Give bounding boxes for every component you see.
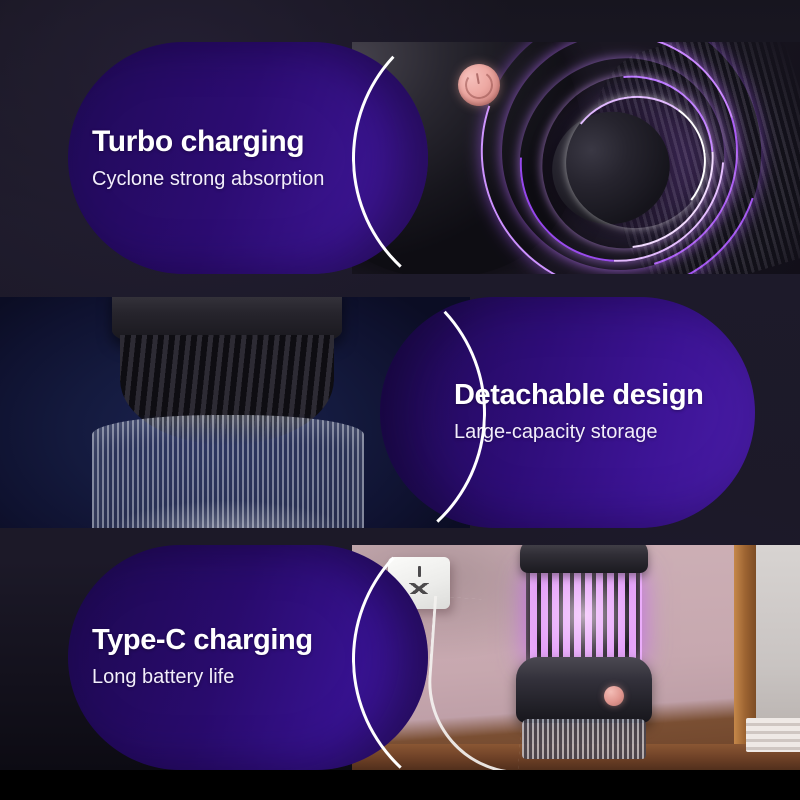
panel-title: Detachable design [454,380,755,412]
picture-backing [756,545,800,741]
panel-title: Turbo charging [92,125,428,158]
lamp-top-cap [520,545,648,573]
uv-lamp-icon [526,571,642,663]
books-stack-icon [746,718,800,752]
storage-canister-icon [92,415,364,528]
panel-title: Type-C charging [92,625,428,657]
picture-frame-icon [734,545,756,747]
bottom-strip [0,770,800,800]
panel-subtitle: Large-capacity storage [454,420,755,445]
lamp-base-ribs [522,719,646,759]
panel-text-pill: Type-C charging Long battery life [68,545,428,770]
feature-panel-type-c-charging: Type-C charging Long battery life [0,545,800,770]
panel-text-pill: Detachable design Large-capacity storage [380,297,755,528]
lamp-body [516,657,652,723]
panel-subtitle: Long battery life [92,665,428,690]
feature-panel-detachable-design: Detachable design Large-capacity storage [0,297,800,528]
power-button-icon [604,686,624,706]
feature-panels-page: Turbo charging Cyclone strong absorption… [0,0,800,800]
panel-text-pill: Turbo charging Cyclone strong absorption [68,42,428,274]
panel-subtitle: Cyclone strong absorption [92,167,428,192]
feature-panel-turbo-charging: Turbo charging Cyclone strong absorption [0,42,800,274]
